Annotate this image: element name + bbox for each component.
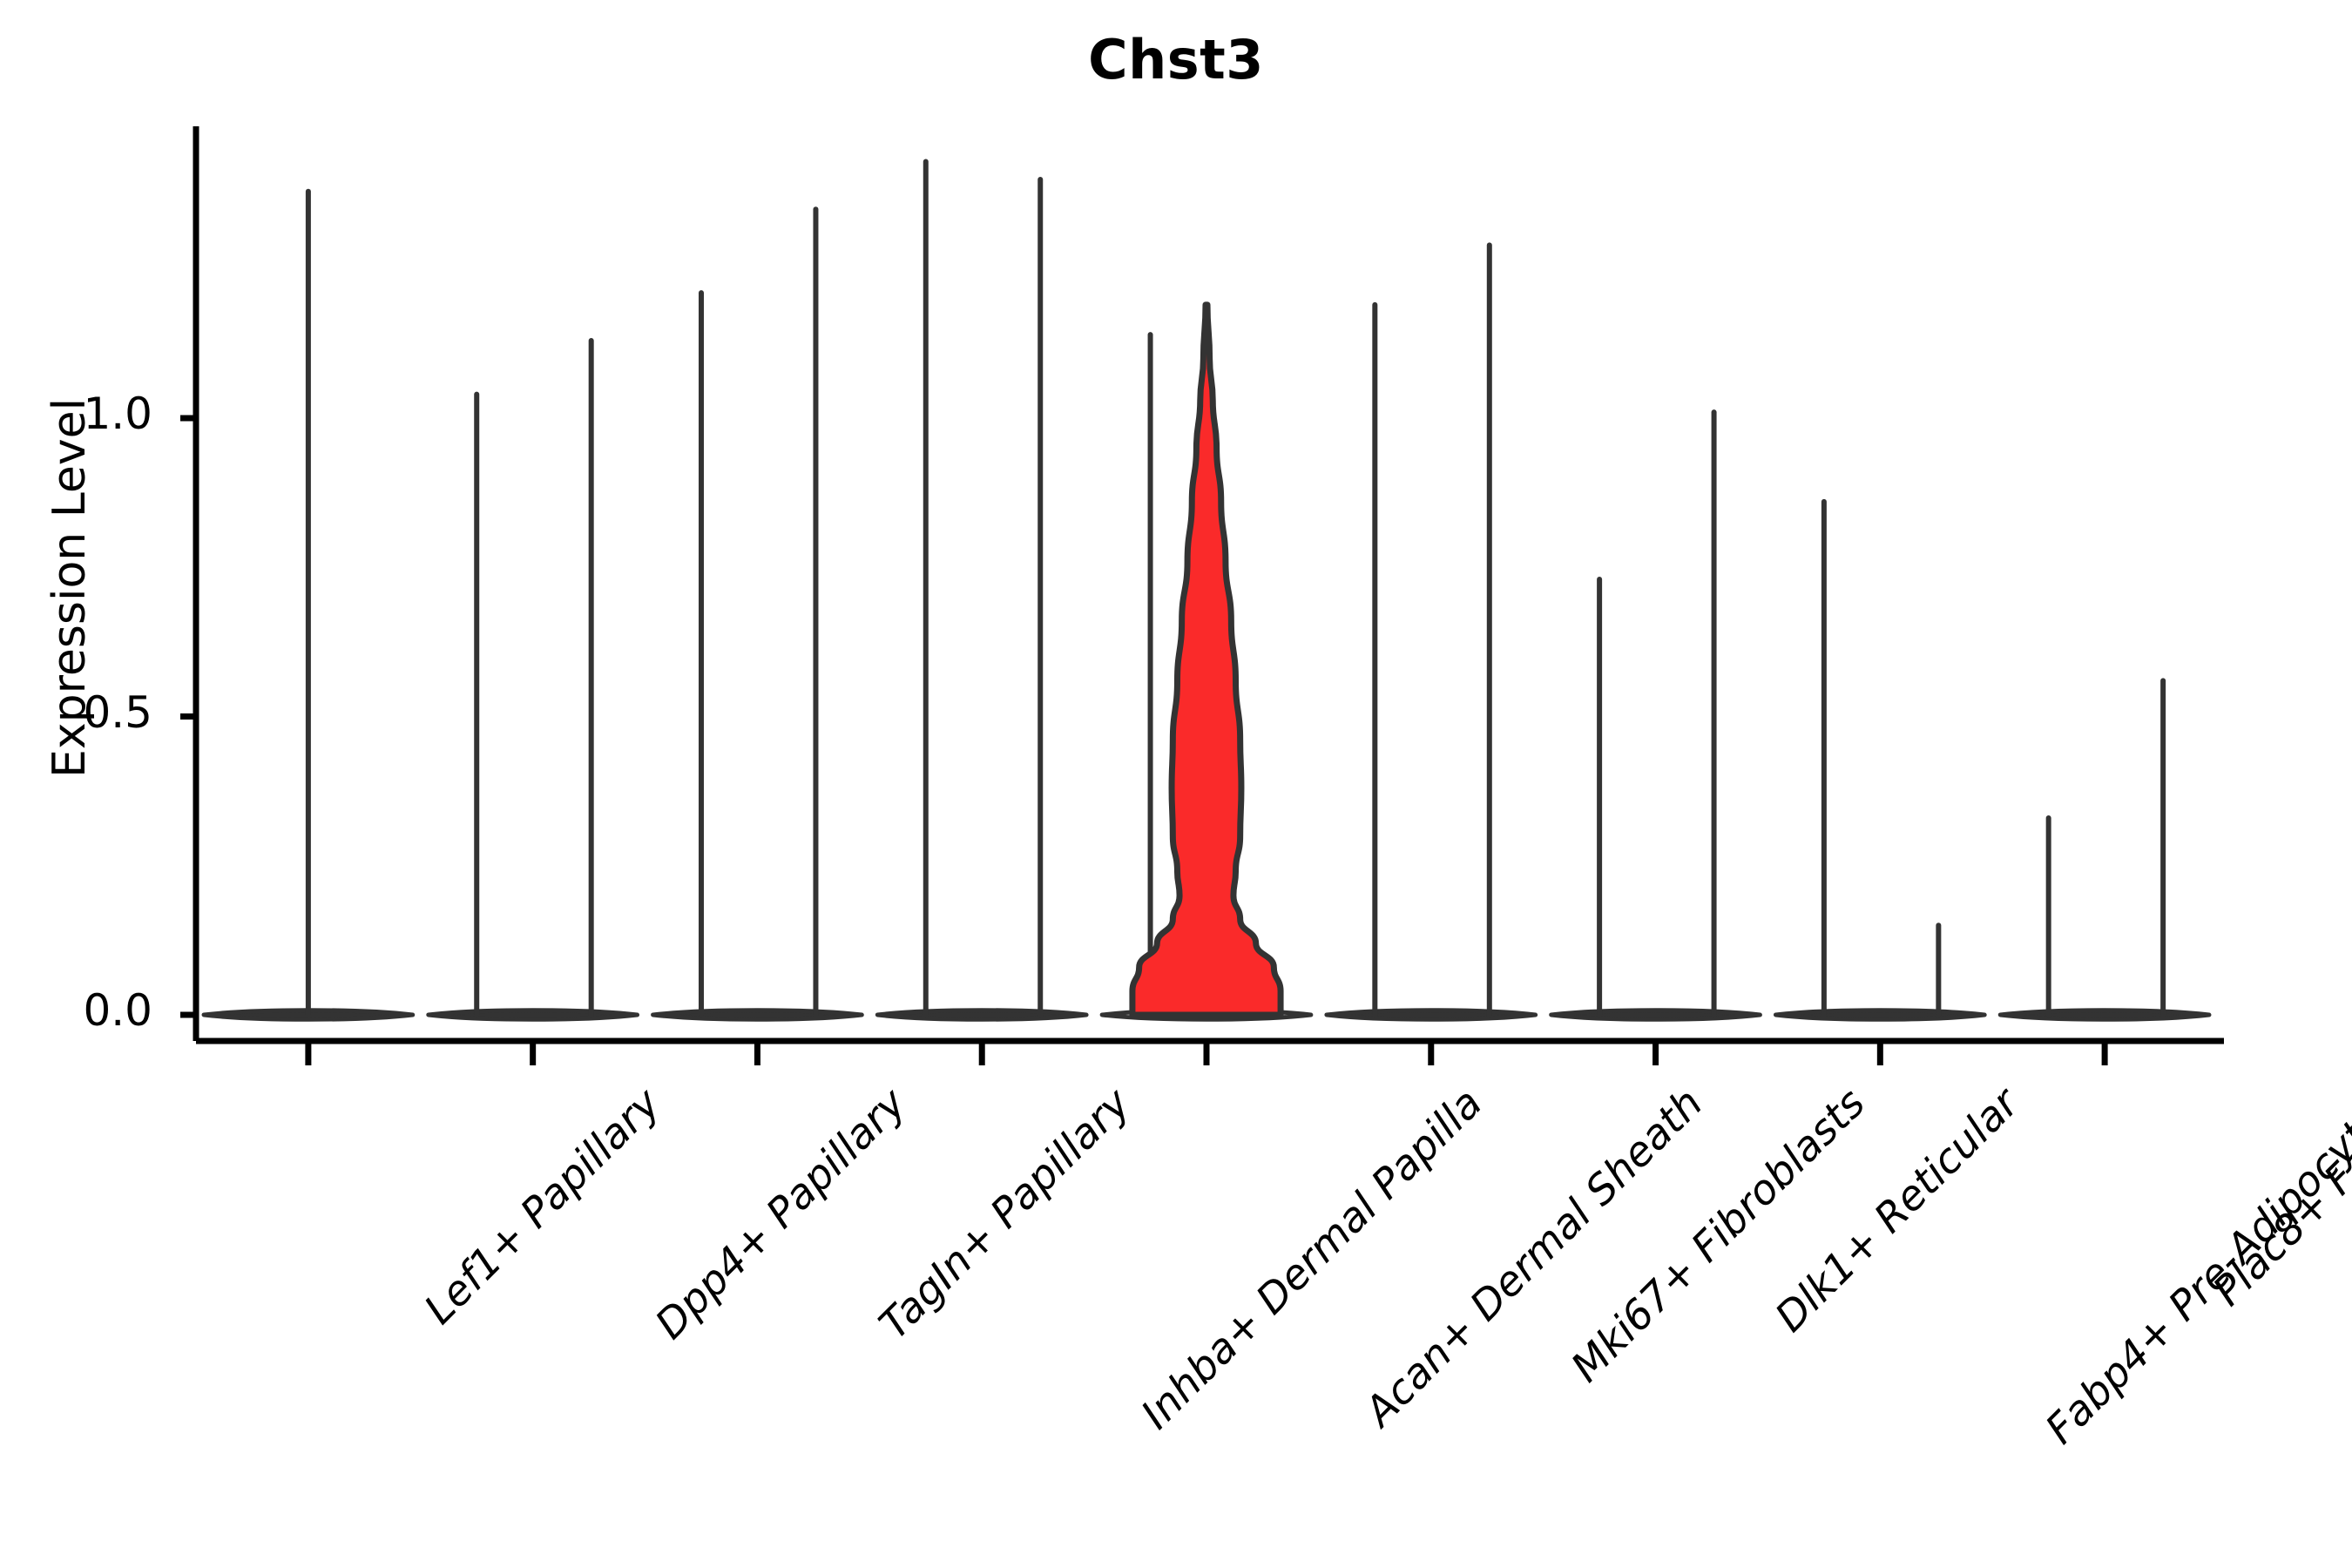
violin-baseline (1551, 1010, 1761, 1020)
violin-5 (1102, 305, 1311, 1019)
violin-plot-figure: Chst3 Expression Level 0.00.51.0 Lef1+ P… (0, 0, 2352, 1568)
violin-baseline (2000, 1010, 2209, 1020)
violin-9 (2000, 680, 2209, 1019)
violin-8 (1775, 502, 1984, 1019)
violin-7 (1551, 412, 1761, 1019)
violin-baseline (1775, 1010, 1984, 1020)
violin-baseline (429, 1010, 638, 1020)
violin-baseline (877, 1010, 1086, 1020)
violin-2 (429, 341, 638, 1019)
violin-baseline (653, 1010, 862, 1020)
violins-group (204, 161, 2209, 1019)
plot-canvas (0, 0, 2352, 1568)
violin-6 (1327, 245, 1536, 1019)
violin-4 (877, 161, 1086, 1019)
y-tick-label: 0.5 (13, 687, 152, 738)
violin-body-highlighted (1132, 305, 1281, 1015)
y-tick-label: 1.0 (13, 389, 152, 439)
y-tick-label: 0.0 (13, 985, 152, 1036)
violin-baseline (1327, 1010, 1536, 1020)
violin-3 (653, 209, 862, 1019)
violin-1 (204, 192, 413, 1020)
